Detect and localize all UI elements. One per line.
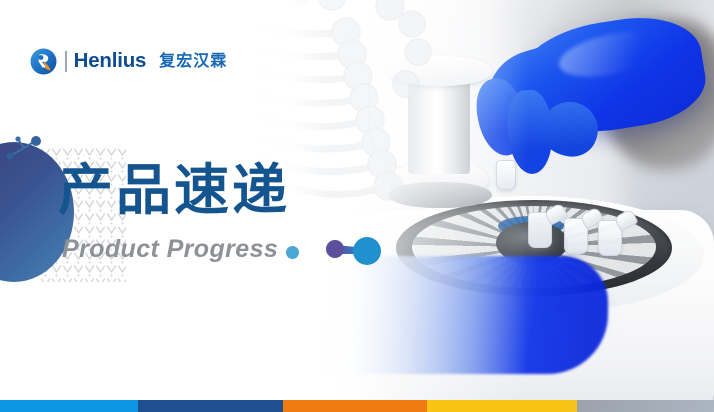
molecule-icon [322,232,384,266]
product-progress-banner: Henlius 复宏汉霖 产品速递 Product Progress [0,0,714,412]
page-title: 产品速递 [58,163,290,218]
photo-left-fade [300,0,714,400]
bar-segment-dark-blue [138,400,283,412]
bar-segment-gray [577,400,714,412]
logo-english-name: Henlius [74,51,147,72]
lab-centrifuge-photo [300,0,714,400]
logo-chinese-name: 复宏汉霖 [159,54,227,70]
bar-segment-orange [283,400,427,412]
logo-divider [65,51,67,72]
bottom-color-bar [0,400,714,412]
page-subtitle: Product Progress [62,237,278,262]
bar-segment-yellow [427,400,577,412]
dot-icon [286,246,299,259]
bar-segment-light-blue [0,400,138,412]
henlius-logo[interactable]: Henlius 复宏汉霖 [30,48,227,75]
henlius-circle-logo-icon [30,48,57,75]
molecule-icon [4,134,48,166]
